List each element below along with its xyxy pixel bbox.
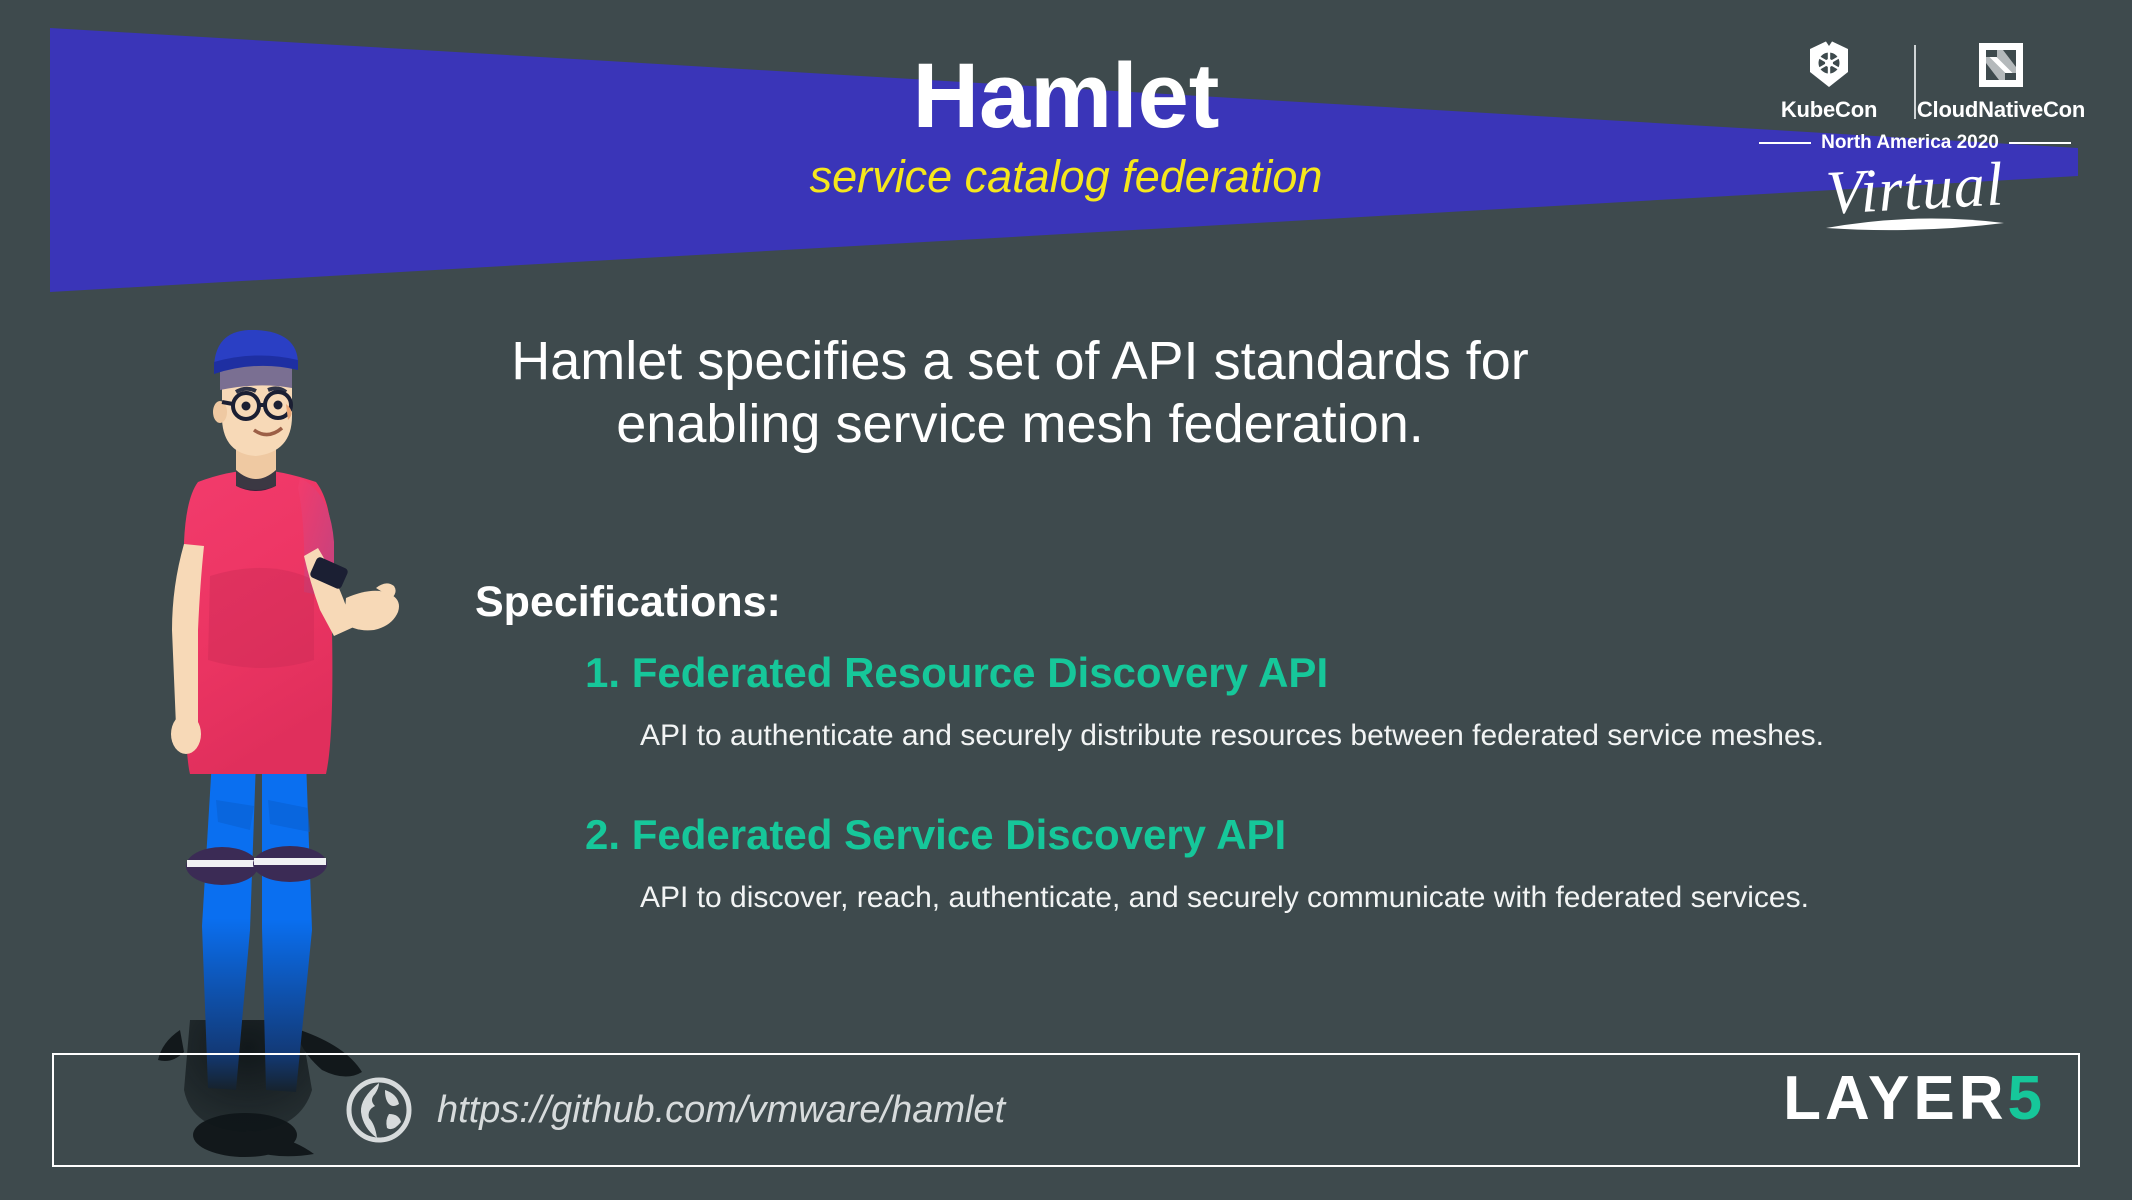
spec-2-number: 2. (585, 811, 620, 858)
standing-person-presenting-illustration (150, 330, 450, 1160)
presentation-slide: Hamlet service catalog federation (0, 0, 2132, 1200)
spec-1-description: API to authenticate and securely distrib… (640, 719, 2055, 753)
region-rule-right (2009, 142, 2071, 144)
spec-2-title: 2. Federated Service Discovery API (585, 811, 2055, 859)
specifications-heading: Specifications: (475, 578, 2055, 627)
cloudnativecon-label: CloudNativeCon (1917, 97, 2085, 123)
lede-paragraph: Hamlet specifies a set of API standards … (430, 330, 1610, 455)
person-hand-right (344, 583, 399, 630)
logo-divider (1914, 45, 1916, 119)
layer5-logo-text: LAYER 5 (1783, 1068, 2046, 1130)
layer5-text-primary: LAYER (1783, 1068, 2007, 1130)
person-shoes (186, 846, 327, 885)
cloudnativecon-logo: CloudNativeCon (1925, 36, 2077, 123)
conference-region-label: North America 2020 (1821, 132, 1999, 154)
conference-logo-row: KubeCon CloudNativeCon (1750, 36, 2080, 123)
kubecon-label: KubeCon (1781, 97, 1877, 123)
list-item: 2. Federated Service Discovery API API t… (585, 811, 2055, 915)
globe-icon (345, 1076, 413, 1144)
kubecon-logo: KubeCon (1753, 36, 1905, 123)
spec-2-description: API to discover, reach, authenticate, an… (640, 881, 2055, 915)
conference-logo-lockup: KubeCon CloudNativeCon (1750, 36, 2080, 241)
footer-repository-link[interactable]: https://github.com/vmware/hamlet (345, 1068, 1005, 1152)
list-item: 1. Federated Resource Discovery API API … (585, 649, 2055, 753)
region-rule-left (1759, 142, 1811, 144)
specifications-section: Specifications: 1. Federated Resource Di… (475, 578, 2055, 915)
spec-2-title-text: Federated Service Discovery API (632, 811, 1286, 858)
conference-region-row: North America 2020 (1750, 132, 2080, 154)
person-hand-left (171, 714, 201, 754)
footer-url-text: https://github.com/vmware/hamlet (437, 1089, 1005, 1132)
kubernetes-helm-icon (1803, 36, 1855, 90)
cloudnativecon-square-icon (1976, 36, 2026, 90)
layer5-text-accent: 5 (2008, 1068, 2046, 1130)
spec-1-number: 1. (585, 649, 620, 696)
spec-1-title: 1. Federated Resource Discovery API (585, 649, 2055, 697)
spec-1-title-text: Federated Resource Discovery API (632, 649, 1328, 696)
conference-virtual-label: Virtual (1749, 149, 2082, 228)
